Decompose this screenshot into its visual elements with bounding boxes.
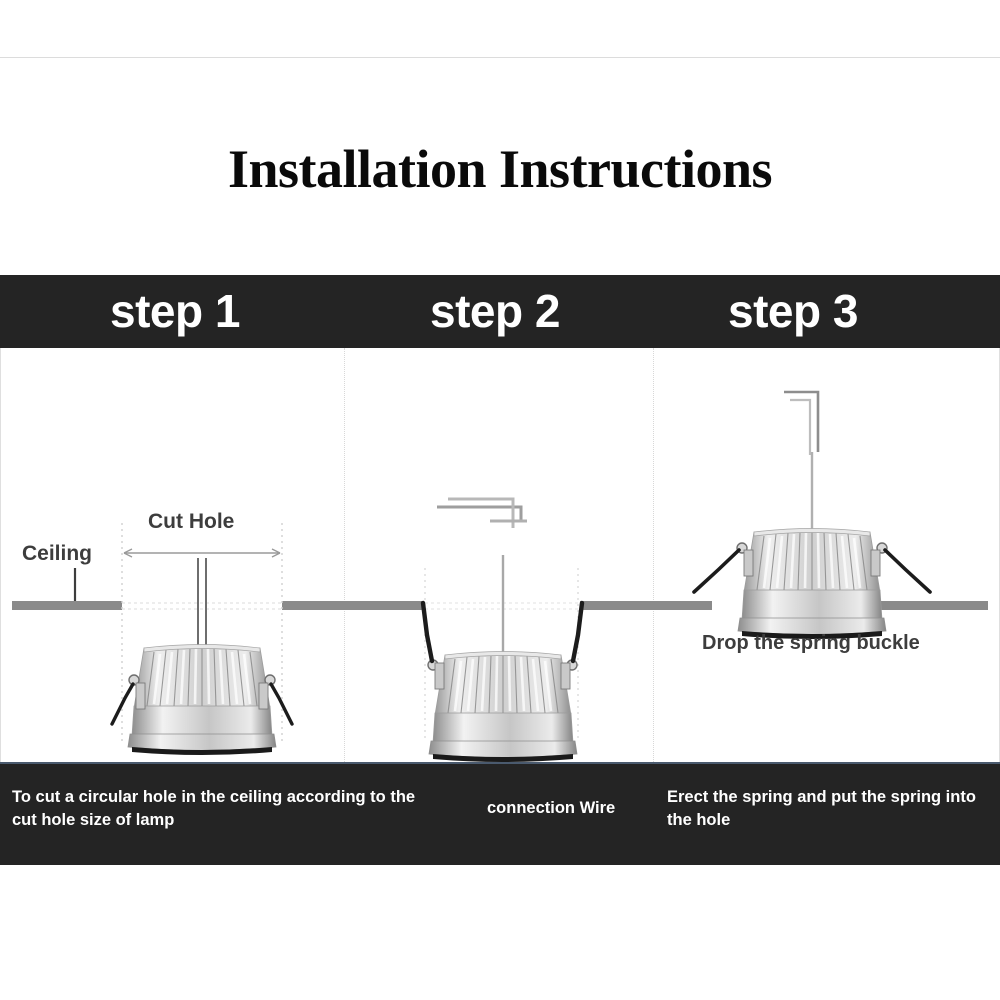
step-2-illustration [423,499,582,762]
label-drop-spring-buckle: Drop the spring buckle [702,632,920,655]
label-ceiling: Ceiling [22,542,92,566]
installation-diagram: Installation Instructions step 1 step 2 … [0,0,1000,1000]
step-3-illustration [694,392,930,639]
caption-step-3: Erect the spring and put the spring into… [667,786,997,832]
caption-step-1: To cut a circular hole in the ceiling ac… [12,786,442,832]
caption-step-2: connection Wire [487,797,657,820]
step-1-illustration [75,523,292,755]
label-cut-hole: Cut Hole [148,510,234,534]
